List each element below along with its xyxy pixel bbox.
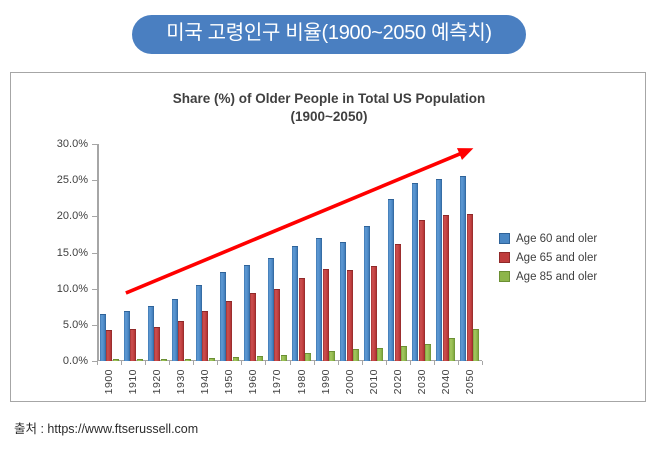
bar[interactable] [137, 359, 143, 362]
bar[interactable] [233, 357, 239, 361]
x-axis-tick [290, 361, 291, 365]
bar[interactable] [100, 314, 106, 361]
bar-group[interactable] [196, 144, 215, 361]
bar[interactable] [154, 327, 160, 361]
bar[interactable] [364, 226, 370, 361]
bar[interactable] [113, 359, 119, 362]
legend-swatch-icon [499, 233, 510, 244]
y-axis-tick-label: 20.0% [57, 210, 88, 222]
x-axis-tick-label: 2000 [344, 369, 356, 394]
bar[interactable] [202, 311, 208, 361]
y-axis-tick-label: 25.0% [57, 174, 88, 186]
legend-item[interactable]: Age 60 and oler [499, 231, 597, 246]
x-axis-tick [410, 361, 411, 365]
y-axis-tick-label: 15.0% [57, 247, 88, 259]
bar[interactable] [425, 344, 431, 361]
bar[interactable] [377, 348, 383, 361]
x-axis-tick [169, 361, 170, 365]
bar[interactable] [340, 242, 346, 361]
bar-group[interactable] [268, 144, 287, 361]
bar[interactable] [124, 311, 130, 361]
x-axis-tick-label: 2010 [368, 369, 380, 394]
x-axis-tick [217, 361, 218, 365]
x-axis-tick-label: 1980 [296, 369, 308, 394]
chart-title: Share (%) of Older People in Total US Po… [11, 90, 647, 126]
bar[interactable] [281, 355, 287, 361]
x-axis-tick [482, 361, 483, 365]
bar-group[interactable] [436, 144, 455, 361]
y-axis-tick-label: 30.0% [57, 138, 88, 150]
bar-group[interactable] [412, 144, 431, 361]
x-axis-tick [314, 361, 315, 365]
bar[interactable] [412, 183, 418, 361]
bar[interactable] [449, 338, 455, 361]
bar[interactable] [244, 265, 250, 361]
x-axis-tick-label: 1960 [247, 369, 259, 394]
bar-group[interactable] [148, 144, 167, 361]
x-axis-tick [386, 361, 387, 365]
bar[interactable] [292, 246, 298, 361]
x-axis-tick [121, 361, 122, 365]
header-banner: 미국 고령인구 비율(1900~2050 예측치) [0, 10, 658, 58]
y-axis-tick [92, 253, 97, 254]
source-note: 출처 : https://www.ftserussell.com [14, 418, 198, 437]
x-axis-tick [362, 361, 363, 365]
bar-group[interactable] [316, 144, 335, 361]
legend-item-label: Age 60 and oler [516, 233, 597, 245]
x-axis-tick [434, 361, 435, 365]
y-axis-tick [92, 180, 97, 181]
bar-group[interactable] [124, 144, 143, 361]
bar[interactable] [268, 258, 274, 361]
plot-area: 0.0%5.0%10.0%15.0%20.0%25.0%30.0% 190019… [97, 144, 482, 361]
bar[interactable] [172, 299, 178, 361]
bar[interactable] [353, 349, 359, 361]
legend-item-label: Age 65 and oler [516, 252, 597, 264]
x-axis-tick [265, 361, 266, 365]
x-axis-tick [338, 361, 339, 365]
y-axis-tick-label: 10.0% [57, 283, 88, 295]
bar[interactable] [226, 301, 232, 361]
y-axis-tick-label: 5.0% [63, 319, 88, 331]
bar-group[interactable] [388, 144, 407, 361]
bar[interactable] [323, 269, 329, 361]
bar[interactable] [161, 359, 167, 362]
x-axis-tick-label: 1920 [151, 369, 163, 394]
bar[interactable] [148, 306, 154, 361]
bar[interactable] [196, 285, 202, 361]
bar-group[interactable] [244, 144, 263, 361]
bar[interactable] [299, 278, 305, 361]
bar-group[interactable] [364, 144, 383, 361]
bar[interactable] [178, 321, 184, 361]
chart-container: Share (%) of Older People in Total US Po… [10, 72, 646, 402]
bar[interactable] [419, 220, 425, 361]
bar[interactable] [250, 293, 256, 361]
legend-item-label: Age 85 and oler [516, 271, 597, 283]
bar[interactable] [185, 359, 191, 362]
chart-legend: Age 60 and olerAge 65 and olerAge 85 and… [499, 231, 597, 288]
bar-group[interactable] [100, 144, 119, 361]
legend-item[interactable]: Age 85 and oler [499, 269, 597, 284]
y-axis-tick [92, 289, 97, 290]
x-axis-tick-label: 2040 [440, 369, 452, 394]
bar[interactable] [388, 199, 394, 361]
x-axis-tick-label: 1940 [199, 369, 211, 394]
x-axis-tick [97, 361, 98, 365]
bar-group[interactable] [460, 144, 479, 361]
bar-group[interactable] [292, 144, 311, 361]
x-axis-tick [193, 361, 194, 365]
y-axis-tick [92, 325, 97, 326]
x-axis-tick-label: 1900 [103, 369, 115, 394]
bar[interactable] [106, 330, 112, 361]
x-axis-tick-label: 2030 [416, 369, 428, 394]
legend-item[interactable]: Age 65 and oler [499, 250, 597, 265]
page-title: 미국 고령인구 비율(1900~2050 예측치) [132, 15, 526, 54]
x-axis-tick-label: 1950 [223, 369, 235, 394]
bar[interactable] [329, 351, 335, 361]
x-axis-tick-label: 1990 [320, 369, 332, 394]
y-axis-tick [92, 144, 97, 145]
bar[interactable] [274, 289, 280, 361]
chart-subtitle: (1900~2050) [11, 108, 647, 126]
bar[interactable] [401, 346, 407, 361]
bar-group[interactable] [220, 144, 239, 361]
legend-swatch-icon [499, 252, 510, 263]
bar[interactable] [436, 179, 442, 361]
bar[interactable] [305, 353, 311, 361]
bar[interactable] [316, 238, 322, 361]
bar[interactable] [371, 266, 377, 361]
y-axis-tick-label: 0.0% [63, 355, 88, 367]
x-axis-tick-label: 2020 [392, 369, 404, 394]
x-axis-tick [458, 361, 459, 365]
bar[interactable] [220, 272, 226, 361]
x-axis-tick-label: 1910 [127, 369, 139, 394]
bar[interactable] [467, 214, 473, 361]
y-axis-tick [92, 216, 97, 217]
legend-swatch-icon [499, 271, 510, 282]
x-axis-tick-label: 2050 [464, 369, 476, 394]
x-axis-tick-label: 1970 [271, 369, 283, 394]
x-axis-tick [241, 361, 242, 365]
bar[interactable] [395, 244, 401, 361]
bar-group[interactable] [172, 144, 191, 361]
bar[interactable] [130, 329, 136, 361]
bar[interactable] [257, 356, 263, 361]
x-axis-tick [145, 361, 146, 365]
bar[interactable] [209, 358, 215, 361]
bar[interactable] [347, 270, 353, 361]
bar[interactable] [460, 176, 466, 361]
bar[interactable] [473, 329, 479, 361]
bar-group[interactable] [340, 144, 359, 361]
bar[interactable] [443, 215, 449, 361]
chart-title-line1: Share (%) of Older People in Total US Po… [11, 90, 647, 108]
x-axis-tick-label: 1930 [175, 369, 187, 394]
